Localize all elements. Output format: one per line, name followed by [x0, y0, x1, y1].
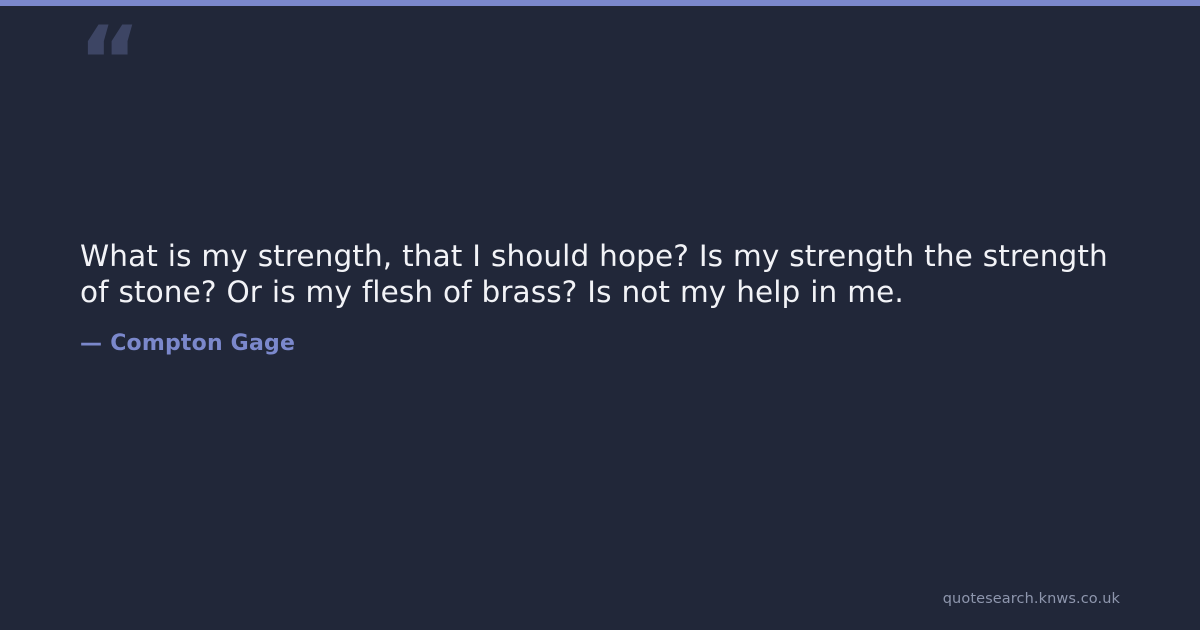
quote-attribution: —Compton Gage — [80, 310, 1126, 358]
quote-body: What is my strength, that I should hope?… — [80, 238, 1126, 358]
quote-text: What is my strength, that I should hope?… — [80, 238, 1126, 310]
author-name: Compton Gage — [110, 331, 295, 356]
top-accent-bar — [0, 0, 1200, 6]
site-watermark: quotesearch.knws.co.uk — [943, 590, 1120, 608]
quote-card: “ What is my strength, that I should hop… — [0, 0, 1200, 630]
em-dash: — — [80, 330, 110, 358]
quotation-mark-icon: “ — [78, 14, 139, 110]
